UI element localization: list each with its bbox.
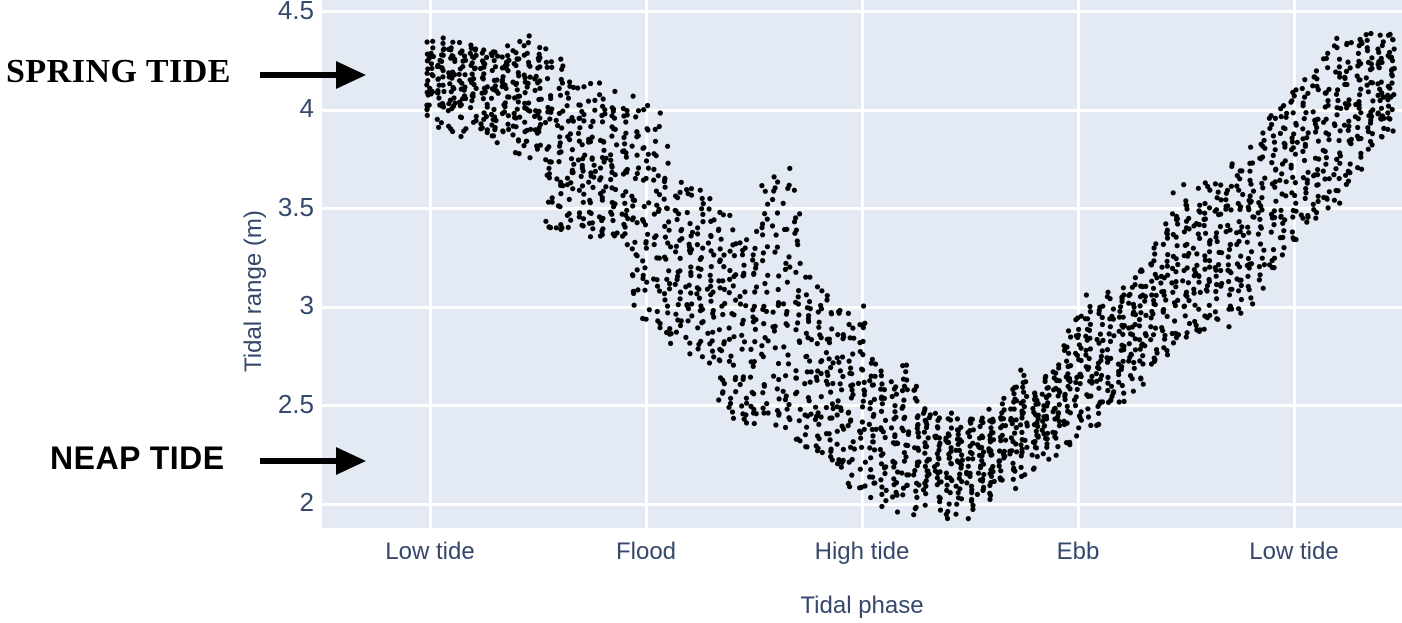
y-axis-tick-label: 3.5: [278, 192, 314, 223]
neap-tide-annotation-label: NEAP TIDE: [50, 440, 225, 477]
x-axis-title: Tidal phase: [800, 592, 923, 620]
spring-tide-right-arrow-icon: [258, 55, 368, 95]
y-axis-tick-label: 3: [300, 290, 314, 321]
scatter-points-layer: [322, 0, 1402, 528]
spring-tide-annotation-label: SPRING TIDE: [6, 53, 231, 91]
y-axis-tick-label: 2: [300, 487, 314, 518]
y-axis-tick-label: 4: [300, 93, 314, 124]
y-axis-tick-label: 2.5: [278, 389, 314, 420]
x-axis-tick-label: Ebb: [1057, 538, 1100, 566]
tidal-range-chart: 22.533.544.5 Tidal range (m) Low tideFlo…: [0, 0, 1402, 623]
neap-tide-right-arrow-icon: [258, 441, 368, 481]
x-axis-tick-label: Flood: [616, 538, 676, 566]
x-axis-tick-label: High tide: [815, 538, 910, 566]
y-axis-title: Tidal range (m): [240, 210, 268, 372]
y-axis-tick-label: 4.5: [278, 0, 314, 26]
plot-panel: [322, 0, 1402, 528]
x-axis-tick-label: Low tide: [1249, 538, 1338, 566]
x-axis-tick-label: Low tide: [385, 538, 474, 566]
